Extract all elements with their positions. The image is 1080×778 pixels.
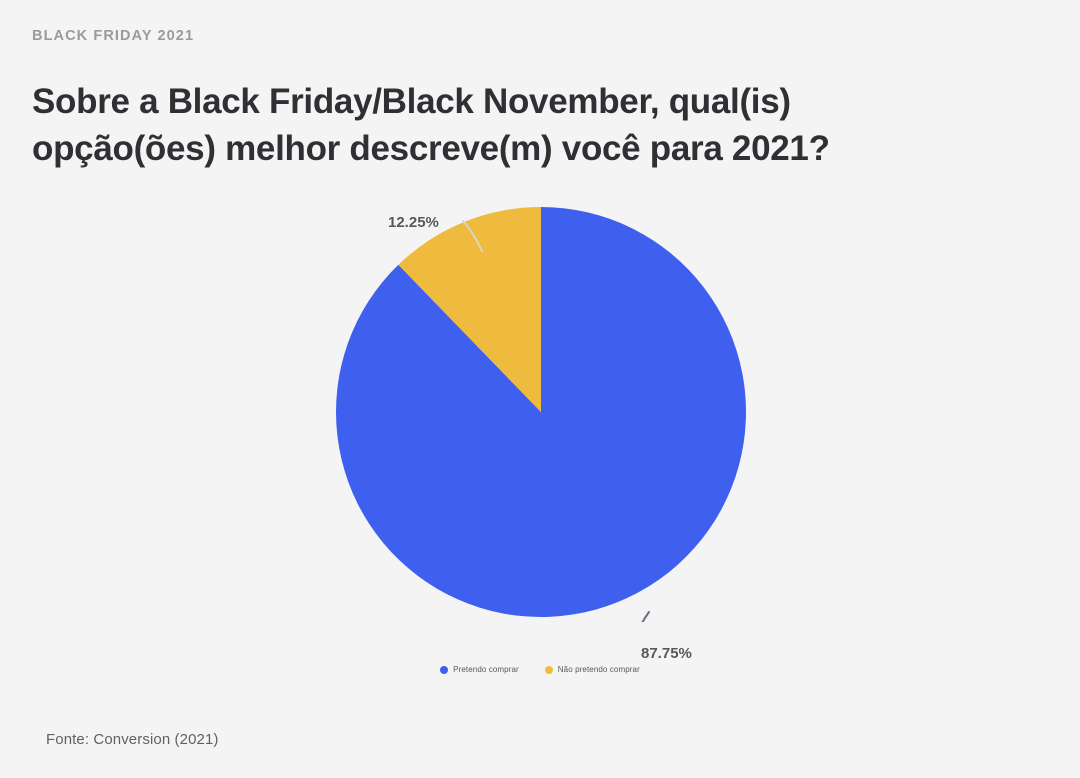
page-title: Sobre a Black Friday/Black November, qua… bbox=[32, 79, 1042, 172]
slide-canvas: BLACK FRIDAY 2021 Sobre a Black Friday/B… bbox=[0, 0, 1080, 778]
chart-legend: Pretendo comprar Não pretendo comprar bbox=[0, 665, 1080, 674]
legend-label: Não pretendo comprar bbox=[558, 665, 640, 674]
pie-graphic: 12.25% 87.75% bbox=[331, 202, 751, 622]
page-title-line-2: opção(ões) melhor descreve(m) você para … bbox=[32, 126, 1042, 173]
page-title-line-1: Sobre a Black Friday/Black November, qua… bbox=[32, 79, 1042, 126]
slice-label-major: 87.75% bbox=[641, 645, 692, 662]
eyebrow-label: BLACK FRIDAY 2021 bbox=[32, 28, 194, 44]
pie-svg bbox=[331, 202, 751, 622]
slice-label-minor: 12.25% bbox=[388, 214, 439, 231]
leader-line-major bbox=[633, 612, 649, 622]
legend-item-nao-pretendo-comprar[interactable]: Não pretendo comprar bbox=[545, 665, 640, 674]
legend-item-pretendo-comprar[interactable]: Pretendo comprar bbox=[440, 665, 519, 674]
pie-chart: 12.25% 87.75% Pretendo comprar Não prete… bbox=[0, 170, 1080, 710]
legend-color-swatch-icon bbox=[545, 666, 553, 674]
legend-color-swatch-icon bbox=[440, 666, 448, 674]
legend-label: Pretendo comprar bbox=[453, 665, 519, 674]
source-caption: Fonte: Conversion (2021) bbox=[46, 731, 219, 748]
